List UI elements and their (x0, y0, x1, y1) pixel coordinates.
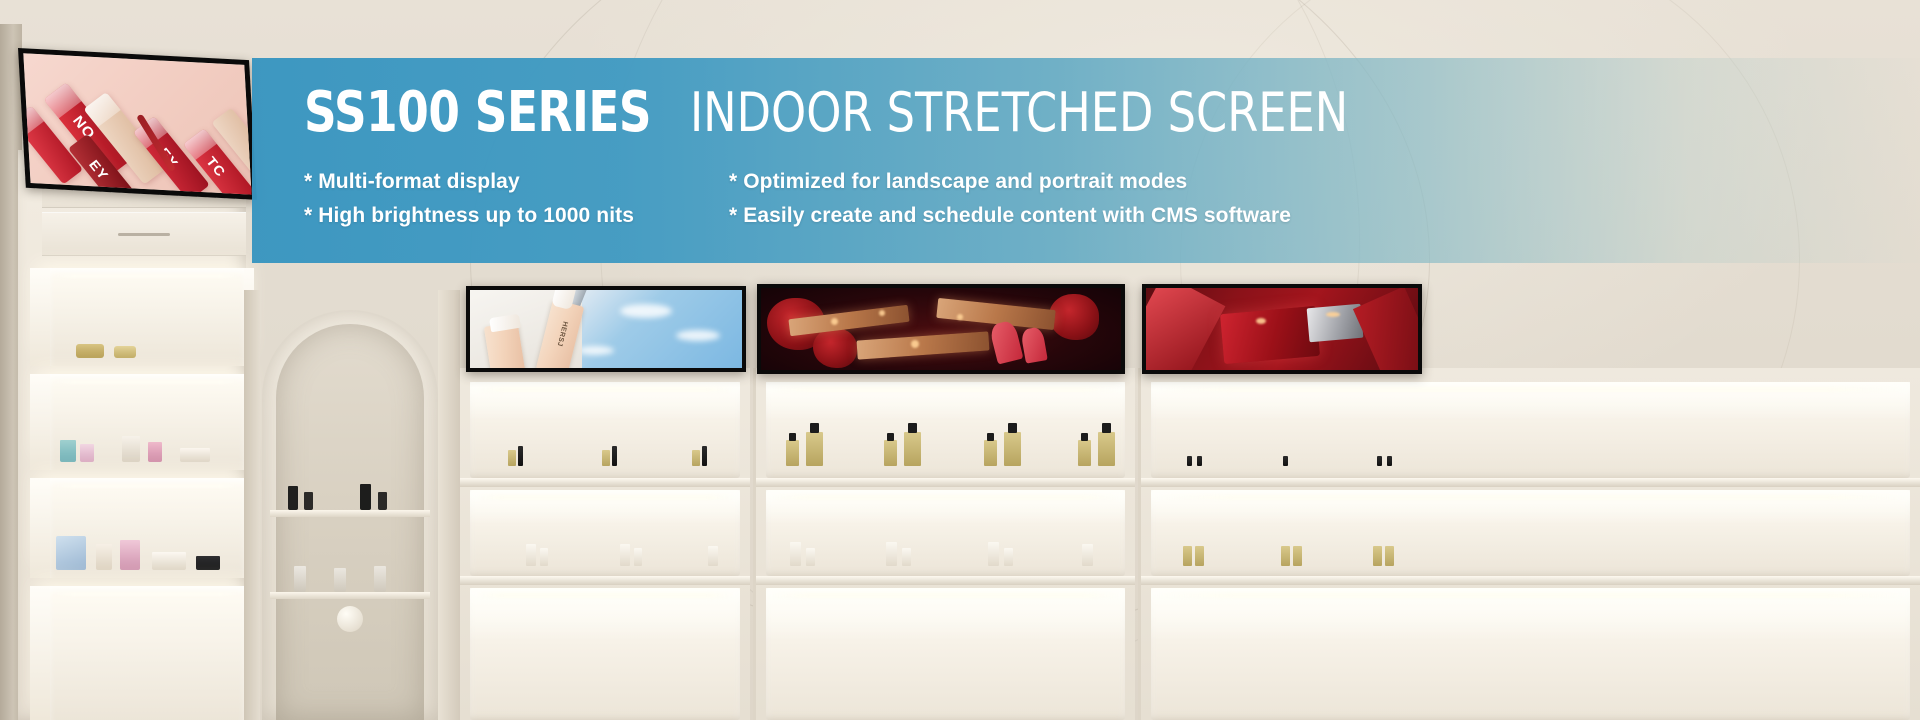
shelf-bay (753, 368, 1135, 720)
highlight-glint (831, 318, 838, 325)
pump-cap (1102, 423, 1111, 433)
serum-bottle (1220, 306, 1320, 364)
shelf-product (806, 548, 815, 566)
shelf-product (1082, 544, 1093, 566)
cabinet-shelf (30, 374, 254, 470)
cloud (676, 330, 720, 341)
alcove-product (360, 484, 371, 510)
shelf-lip (756, 478, 1135, 487)
cabinet-drawer (42, 212, 246, 256)
shelf-product (1373, 546, 1382, 566)
shelf-led-strip (1157, 495, 1904, 500)
shelf-product (612, 446, 617, 466)
shelf-stretched-display-1[interactable]: HERSJ (466, 286, 746, 372)
shelf-niche (1151, 382, 1910, 478)
highlight-glint (911, 340, 919, 348)
shelf-lip (1141, 576, 1920, 585)
shelf-lip (460, 576, 750, 585)
display-content-serum (1146, 288, 1418, 370)
pump-cap (810, 423, 819, 433)
feature-bullet: * High brightness up to 1000 nits (304, 204, 729, 228)
shelf-product (1387, 456, 1392, 466)
pump-cap (887, 433, 894, 441)
shelf-product (1385, 546, 1394, 566)
alcove-product (304, 492, 313, 510)
shelf-lip (756, 576, 1135, 585)
shelf-product (904, 432, 921, 466)
shelf-product (786, 440, 799, 466)
shelf-product (1078, 440, 1091, 466)
cloud (578, 346, 614, 355)
shelf-niche (470, 382, 740, 478)
shelf-product (1183, 546, 1192, 566)
pump-cap (1081, 433, 1088, 441)
banner-title: SS100 SERIES INDOOR STRETCHED SCREEN (304, 82, 1405, 144)
shelf-niche (766, 382, 1125, 478)
shelf-product (806, 432, 823, 466)
shelf-product (634, 548, 642, 566)
shelf-product (96, 544, 112, 570)
shelf-led-strip (772, 593, 1119, 598)
feature-bullet: * Multi-format display (304, 170, 729, 194)
shelf-led-strip (476, 387, 734, 392)
shelf-product (120, 540, 140, 570)
shelf-product (790, 542, 801, 566)
alcove-glassware (374, 566, 386, 592)
shelf-product (76, 344, 104, 358)
pump-cap (908, 423, 917, 433)
cabinet-shelf (30, 586, 254, 720)
shelf-product (1281, 546, 1290, 566)
tube-cap (44, 82, 82, 118)
shelf-product (148, 442, 162, 462)
shelf-stretched-display-3[interactable] (1142, 284, 1422, 374)
alcove-interior (276, 324, 424, 720)
shelf-bay (460, 368, 750, 720)
banner-title-light: INDOOR STRETCHED SCREEN (690, 82, 1348, 144)
feature-bullet: * Easily create and schedule content wit… (729, 204, 1544, 228)
shelf-product (1195, 546, 1204, 566)
shelf-product (1098, 432, 1115, 466)
shelf-led-strip (1157, 593, 1904, 598)
shelf-led-strip (1157, 387, 1904, 392)
drawer-handle (118, 233, 170, 236)
shelf-product (80, 444, 94, 462)
highlight-glint (1256, 318, 1266, 324)
promo-banner: SS100 SERIES INDOOR STRETCHED SCREEN * M… (252, 58, 1920, 263)
pump-cap (987, 433, 994, 441)
cloud (620, 304, 672, 318)
shelf-niche (766, 490, 1125, 576)
display-content-lipgloss: NO EY EY TC (23, 53, 251, 194)
shelf-product (884, 440, 897, 466)
left-display-cabinet (18, 150, 246, 720)
shelf-product (602, 450, 610, 466)
shelf-product (1377, 456, 1382, 466)
alcove-shelf (270, 592, 430, 599)
alcove-glassware (334, 568, 346, 592)
shelf-lip (1141, 478, 1920, 487)
shelf-product (1004, 548, 1013, 566)
shelf-led-strip (476, 593, 734, 598)
divider-pillar (244, 290, 260, 720)
shelf-led-strip (772, 387, 1119, 392)
divider-pillar (438, 290, 460, 720)
banner-feature-list: * Multi-format display * Optimized for l… (304, 170, 1544, 228)
rose-flower (813, 328, 857, 368)
shelf-bay (1138, 368, 1920, 720)
shelf-led-strip (476, 495, 734, 500)
red-fabric-fold (1142, 284, 1225, 374)
arched-alcove (262, 310, 438, 720)
alcove-shelf (270, 510, 430, 517)
shelf-product (518, 446, 523, 466)
shelf-product (708, 546, 718, 566)
shelf-led-strip (52, 592, 242, 596)
pump-cap (1008, 423, 1017, 433)
shelf-product (540, 548, 548, 566)
shelf-product (508, 450, 516, 466)
red-fabric-fold (1353, 286, 1422, 374)
highlight-glint (957, 314, 963, 320)
highlight-glint (879, 310, 885, 316)
shelf-product (902, 548, 911, 566)
shelf-interior (50, 586, 244, 720)
banner-title-bold: SS100 SERIES (304, 82, 651, 144)
lipstick-tube (856, 331, 989, 359)
shelf-led-strip (52, 274, 242, 278)
product-brand-label: HERSJ (555, 320, 568, 347)
shelf-product (1293, 546, 1302, 566)
shelf-niche (1151, 588, 1910, 720)
shelf-led-strip (52, 380, 242, 384)
highlight-glint (1326, 312, 1340, 317)
shelf-product (180, 448, 210, 462)
shelf-product (620, 544, 630, 566)
shelf-product (526, 544, 536, 566)
alcove-product (288, 486, 298, 510)
shelf-product (1004, 432, 1021, 466)
shelf-product (886, 542, 897, 566)
shelf-product (988, 542, 999, 566)
shelf-product (984, 440, 997, 466)
shelf-niche (1151, 490, 1910, 576)
shelf-led-strip (52, 484, 242, 488)
tube-label-text: EY (86, 157, 112, 183)
shelf-product (1283, 456, 1288, 466)
cabinet-shelf (30, 268, 254, 366)
shelf-product (60, 440, 76, 462)
rose-flower (1049, 294, 1099, 340)
shelf-product (196, 556, 220, 570)
tube-label-text: TC (203, 154, 229, 180)
alcove-product (378, 492, 387, 510)
shelf-product (692, 450, 700, 466)
shelf-product (1197, 456, 1202, 466)
shelf-niche (766, 588, 1125, 720)
shelf-product (152, 552, 186, 570)
shelf-stretched-display-2[interactable] (757, 284, 1125, 374)
feature-bullet: * Optimized for landscape and portrait m… (729, 170, 1544, 194)
decorative-orb (337, 606, 363, 632)
lipstick-bullet (1020, 326, 1048, 363)
shelf-led-strip (772, 495, 1119, 500)
cabinet-shelf (30, 478, 254, 578)
pump-cap (789, 433, 796, 441)
alcove-glassware (294, 566, 306, 592)
shelf-product (702, 446, 707, 466)
shelf-product (56, 536, 86, 570)
shelf-niche (470, 490, 740, 576)
tube-cap (18, 106, 44, 136)
shelving-grid (460, 368, 1920, 720)
shelf-niche (470, 588, 740, 720)
shelf-product (1187, 456, 1192, 466)
display-content-lipstick (761, 288, 1121, 370)
display-content-foundation: HERSJ (470, 290, 742, 368)
shelf-product (114, 346, 136, 358)
shelf-product (122, 436, 140, 462)
shelf-lip (460, 478, 750, 487)
wall-mounted-stretched-display[interactable]: NO EY EY TC (18, 48, 257, 200)
